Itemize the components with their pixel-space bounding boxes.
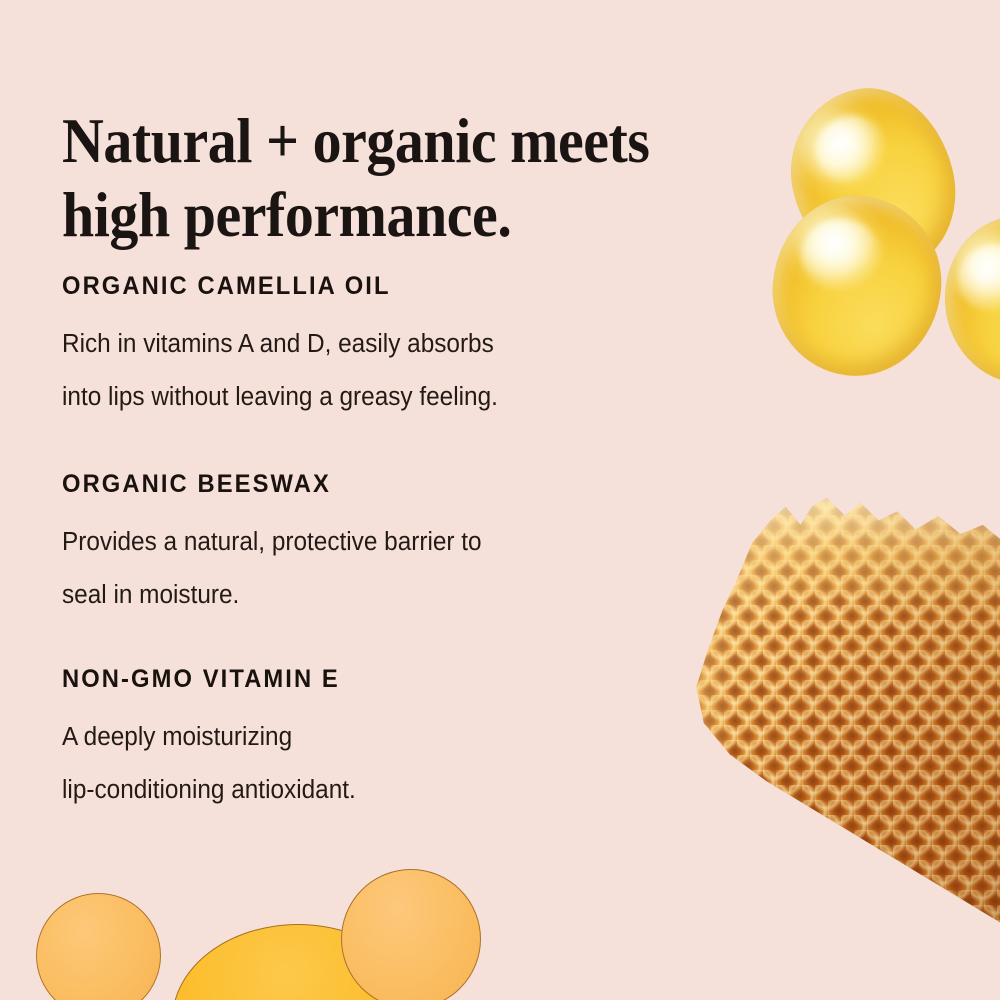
ingredient-block-vitamin-e: NON-GMO VITAMIN E A deeply moisturizing … — [62, 665, 762, 817]
headline-line-2: high performance. — [62, 178, 706, 252]
oil-droplet-right — [938, 210, 1000, 390]
ingredient-title: ORGANIC BEESWAX — [62, 470, 727, 499]
headline-line-1: Natural + organic meets — [62, 104, 706, 178]
ingredient-block-beeswax: ORGANIC BEESWAX Provides a natural, prot… — [62, 470, 762, 622]
page-title: Natural + organic meets high performance… — [62, 104, 706, 252]
ingredient-block-camellia-oil: ORGANIC CAMELLIA OIL Rich in vitamins A … — [62, 272, 762, 424]
ingredient-title: NON-GMO VITAMIN E — [62, 665, 727, 694]
ingredient-description-line-2: lip-conditioning antioxidant. — [62, 764, 731, 817]
honey-blob-left — [36, 893, 161, 1000]
ingredient-description-line-1: Provides a natural, protective barrier t… — [62, 516, 731, 569]
ingredient-description-line-2: into lips without leaving a greasy feeli… — [62, 371, 731, 424]
honey-blob-right — [341, 869, 481, 1000]
oil-droplet-left — [764, 188, 950, 385]
ingredient-description-line-1: A deeply moisturizing — [62, 711, 731, 764]
ingredient-description-line-2: seal in moisture. — [62, 569, 731, 622]
marketing-infographic: Natural + organic meets high performance… — [0, 0, 1000, 1000]
ingredient-description: Provides a natural, protective barrier t… — [62, 516, 731, 622]
ingredient-description: A deeply moisturizing lip-conditioning a… — [62, 711, 731, 817]
ingredient-title: ORGANIC CAMELLIA OIL — [62, 272, 727, 301]
ingredient-description: Rich in vitamins A and D, easily absorbs… — [62, 318, 731, 424]
ingredient-description-line-1: Rich in vitamins A and D, easily absorbs — [62, 318, 731, 371]
